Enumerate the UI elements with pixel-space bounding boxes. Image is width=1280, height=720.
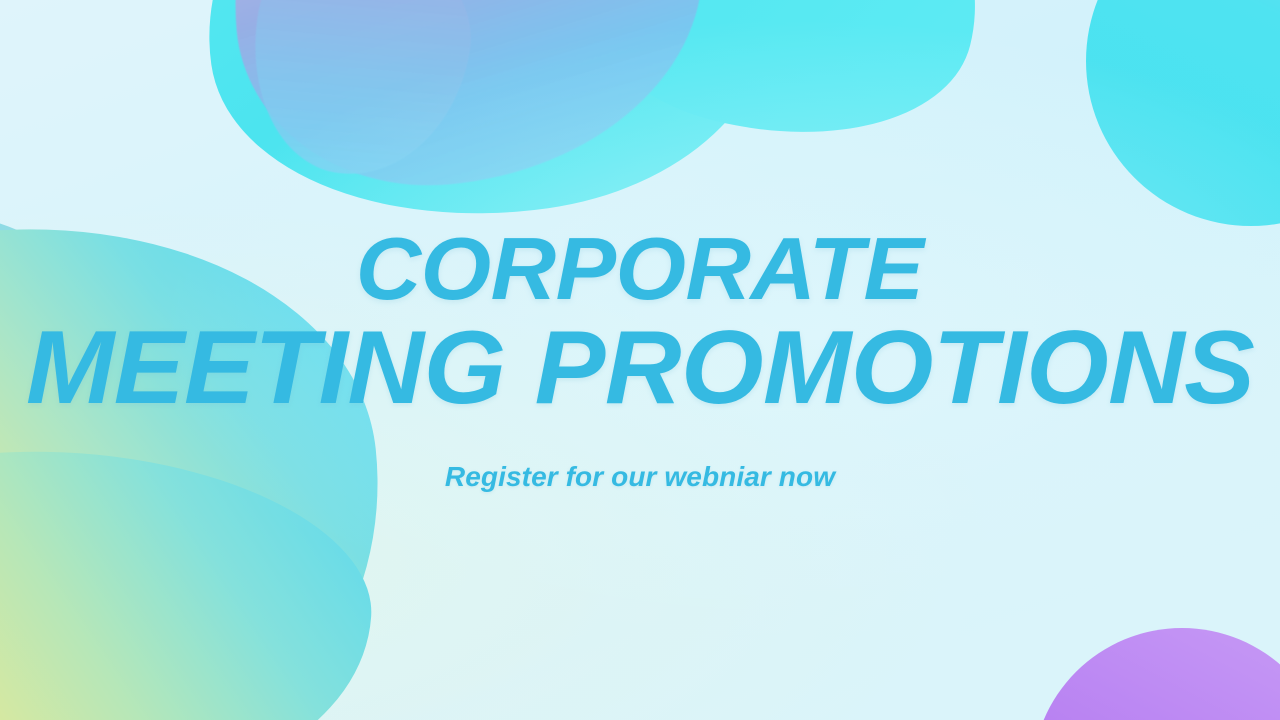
slide-content: CORPORATE MEETING PROMOTIONS Register fo… bbox=[0, 0, 1280, 720]
slide-canvas: CORPORATE MEETING PROMOTIONS Register fo… bbox=[0, 0, 1280, 720]
headline-line-2: MEETING PROMOTIONS bbox=[26, 319, 1254, 419]
subtitle: Register for our webniar now bbox=[445, 461, 835, 493]
headline-line-1: CORPORATE bbox=[356, 227, 924, 311]
